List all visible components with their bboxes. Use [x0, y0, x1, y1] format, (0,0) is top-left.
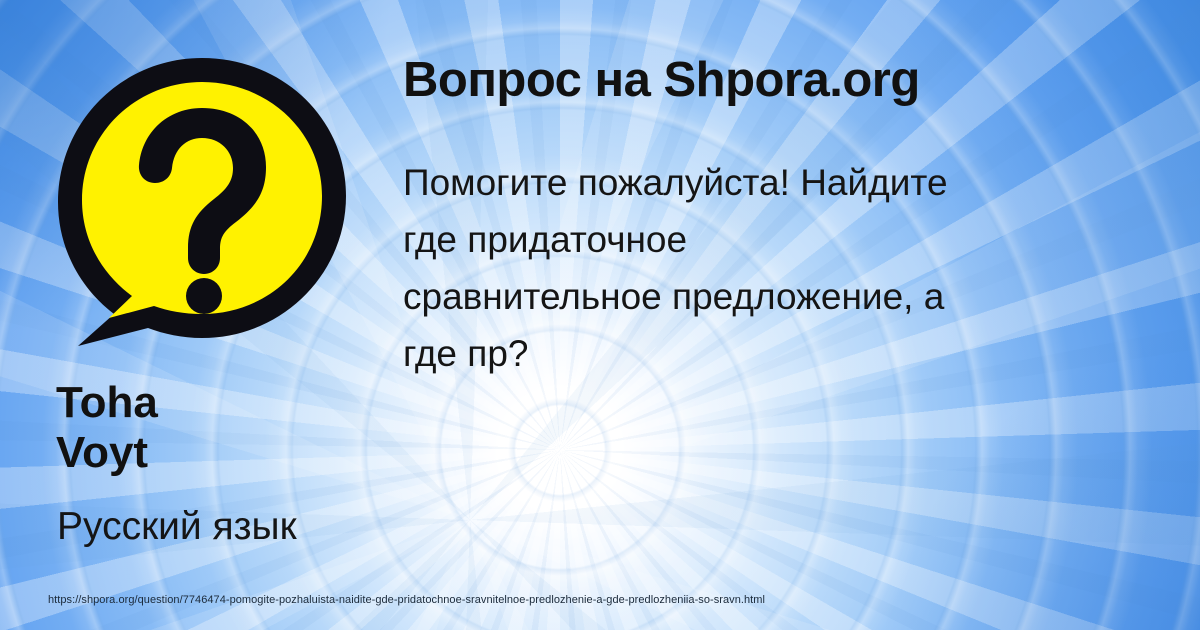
author-name: Toha Voyt — [56, 378, 386, 478]
source-url: https://shpora.org/question/7746474-pomo… — [48, 594, 765, 606]
share-card: Вопрос на Shpora.org Помогите пожалуйста… — [0, 0, 1200, 630]
card-content: Вопрос на Shpora.org Помогите пожалуйста… — [0, 0, 1200, 630]
question-text: Помогите пожалуйста! Найдите где придато… — [403, 154, 1200, 382]
page-title: Вопрос на Shpora.org — [403, 52, 1200, 108]
question-speech-bubble-icon — [52, 52, 352, 352]
subject-label: Русский язык — [57, 505, 297, 549]
